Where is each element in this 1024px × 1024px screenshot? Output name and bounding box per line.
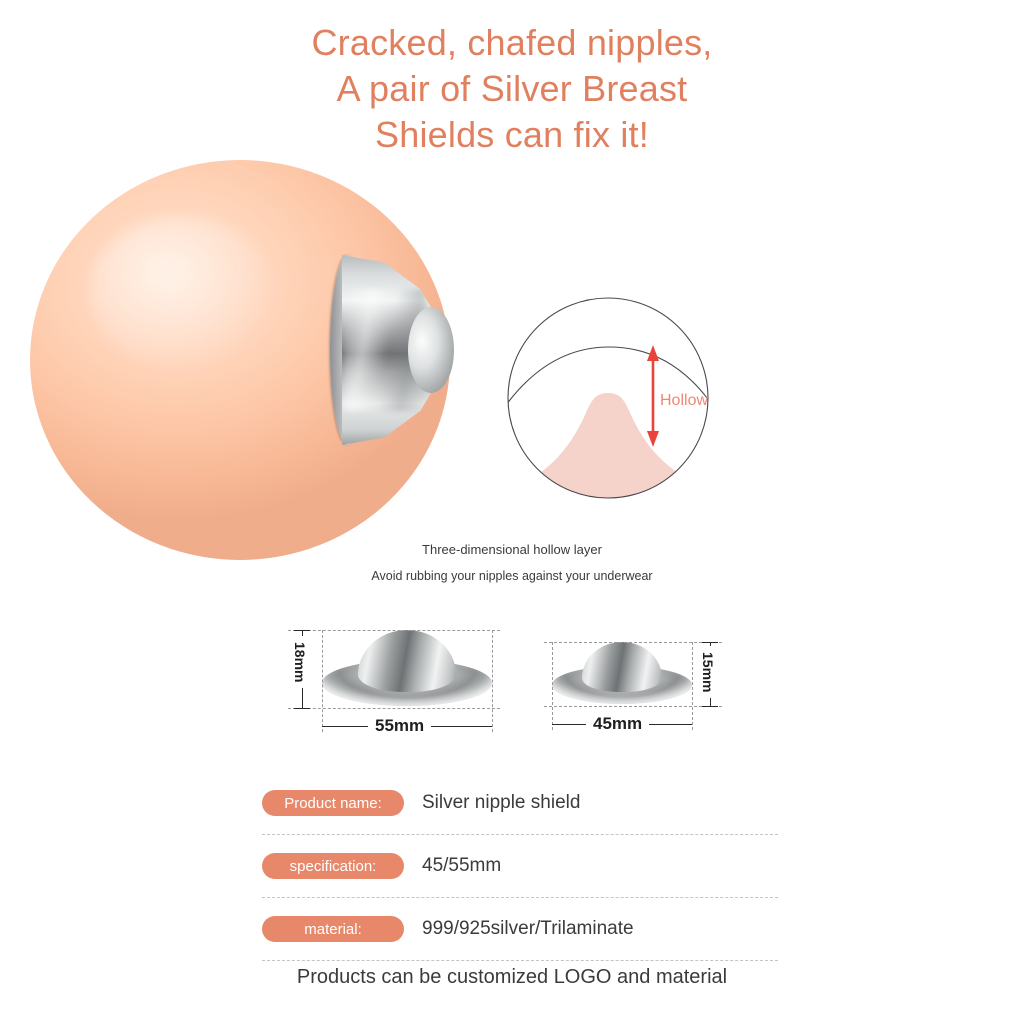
- spec-row-material: material: 999/925silver/Trilaminate: [262, 898, 778, 961]
- small-height-tick-bottom: [702, 706, 718, 707]
- hollow-label: Hollow: [660, 392, 708, 410]
- small-width-label: 45mm: [586, 714, 649, 734]
- size-specification-diagrams: 18mm 55mm 15mm 45mm: [0, 618, 1024, 753]
- large-width-label: 55mm: [368, 716, 431, 736]
- small-dim-extension-left: [552, 642, 553, 730]
- large-height-label: 18mm: [292, 636, 308, 688]
- large-height-tick-top: [294, 630, 310, 631]
- large-dim-extension-top: [288, 630, 500, 631]
- headline-line-1: Cracked, chafed nipples,: [0, 20, 1024, 66]
- silver-shield-side-view: [330, 255, 454, 445]
- small-height-tick-top: [702, 642, 718, 643]
- hollow-caption-line-1: Three-dimensional hollow layer: [0, 540, 1024, 560]
- large-dim-extension-left: [322, 630, 323, 732]
- small-dim-extension-right: [692, 642, 693, 730]
- spec-label-material: material:: [262, 916, 404, 942]
- size-diagram-large: 18mm 55mm: [280, 618, 510, 748]
- size-diagram-small: 15mm 45mm: [540, 628, 730, 748]
- large-shield-dome: [358, 630, 456, 692]
- page-headline: Cracked, chafed nipples, A pair of Silve…: [0, 20, 1024, 158]
- spec-value-specification: 45/55mm: [422, 855, 501, 877]
- spec-value-material: 999/925silver/Trilaminate: [422, 918, 634, 940]
- product-spec-table: Product name: Silver nipple shield speci…: [262, 772, 778, 961]
- customization-note: Products can be customized LOGO and mate…: [0, 966, 1024, 989]
- small-height-label: 15mm: [700, 646, 716, 698]
- large-dim-extension-bottom: [288, 708, 500, 709]
- spec-row-specification: specification: 45/55mm: [262, 835, 778, 898]
- small-dim-extension-bottom: [544, 706, 722, 707]
- small-dim-extension-top: [544, 642, 722, 643]
- shield-tip-highlight: [408, 307, 454, 393]
- spec-label-specification: specification:: [262, 853, 404, 879]
- nipple-profile-fill: [505, 393, 715, 510]
- spec-value-product-name: Silver nipple shield: [422, 792, 580, 814]
- hollow-caption-line-2: Avoid rubbing your nipples against your …: [0, 566, 1024, 586]
- headline-line-2: A pair of Silver Breast: [0, 66, 1024, 112]
- large-dim-extension-right: [492, 630, 493, 732]
- small-shield-dome: [582, 642, 662, 692]
- hollow-arrow: [647, 345, 659, 447]
- hero-product-photo: [150, 150, 490, 570]
- large-height-tick-bottom: [294, 708, 310, 709]
- spec-row-product-name: Product name: Silver nipple shield: [262, 772, 778, 835]
- spec-label-product-name: Product name:: [262, 790, 404, 816]
- hollow-caption-block: Three-dimensional hollow layer Avoid rub…: [0, 540, 1024, 586]
